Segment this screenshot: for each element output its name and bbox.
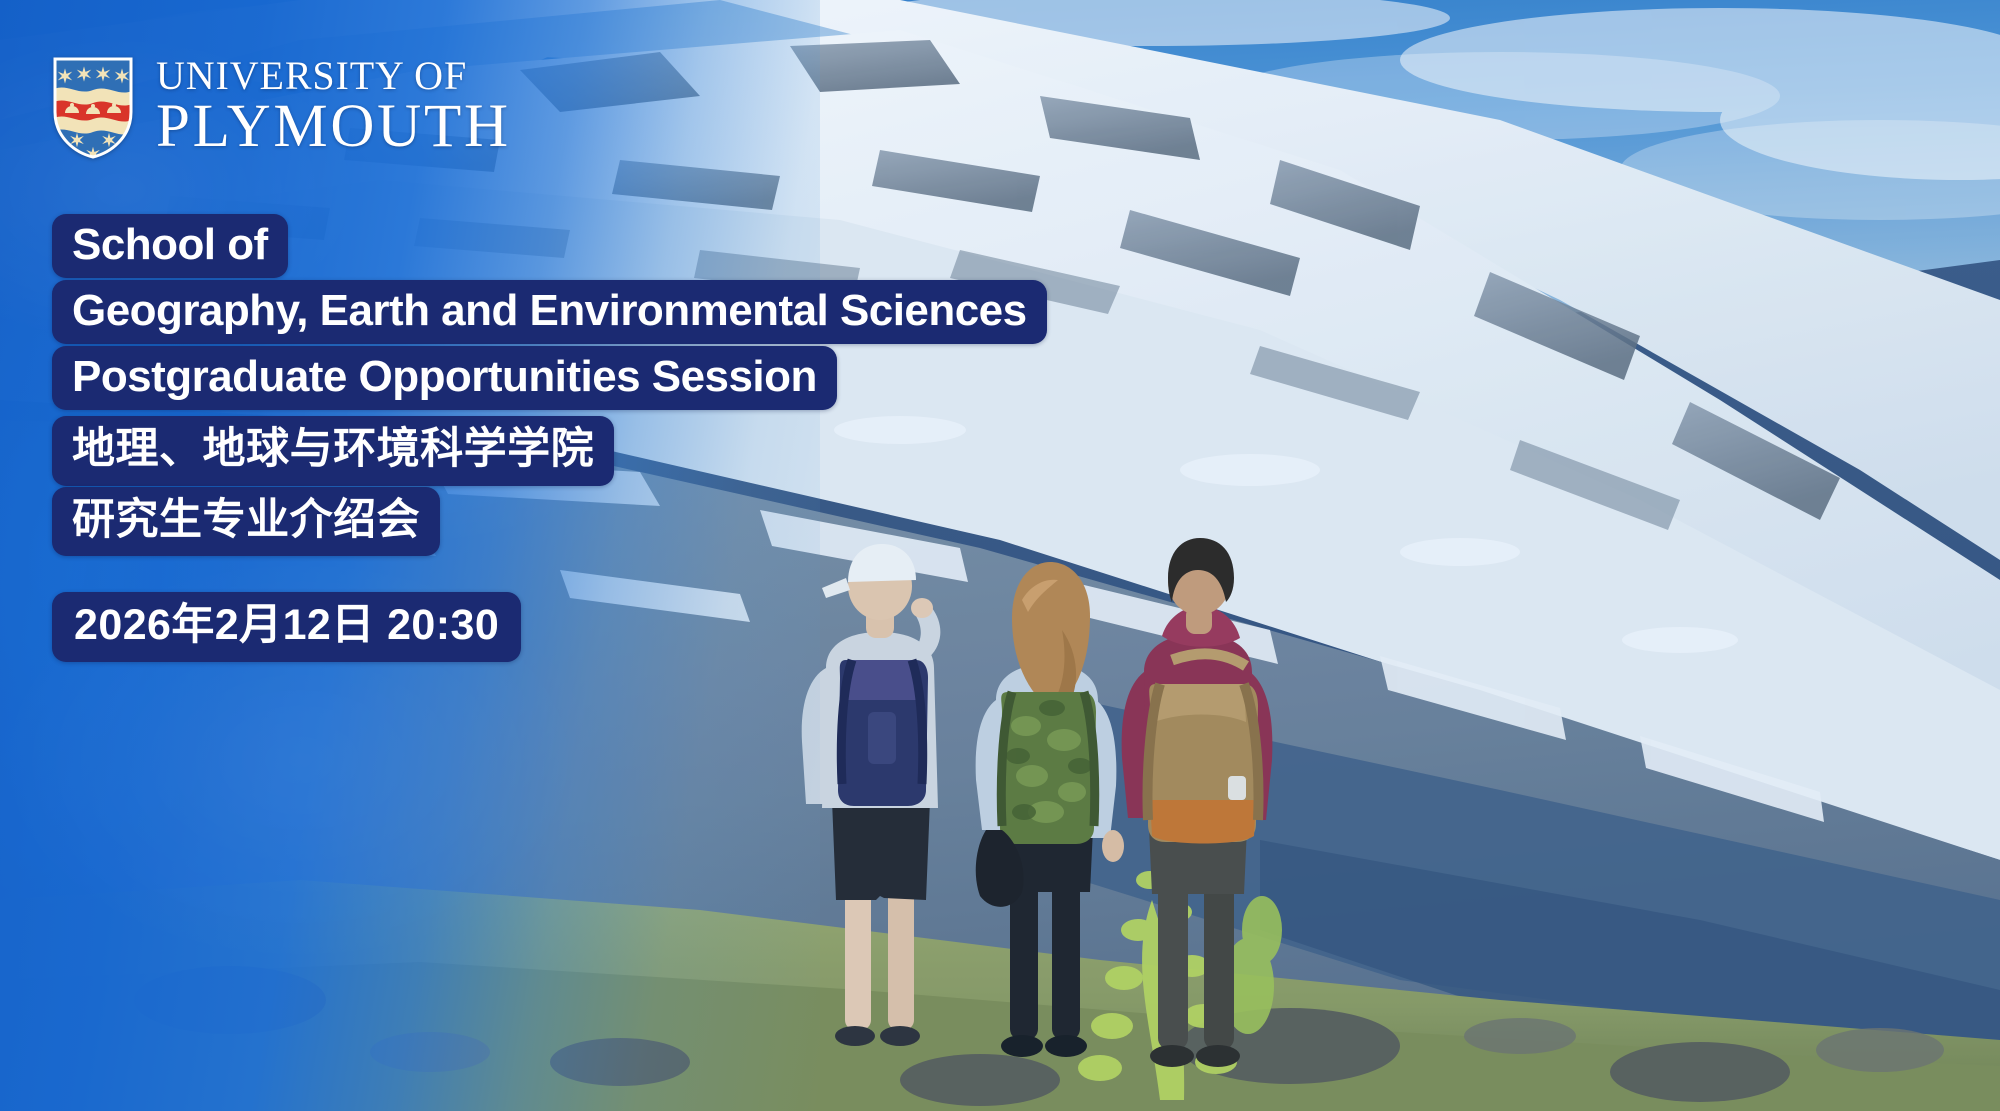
wordmark-line-2: PLYMOUTH bbox=[156, 97, 511, 157]
english-headline-line-3: Postgraduate Opportunities Session bbox=[52, 346, 837, 410]
promotional-banner: UNIVERSITY OF PLYMOUTH School of Geograp… bbox=[0, 0, 2000, 1111]
event-datetime-block: 2026年2月12日 20:30 bbox=[52, 592, 521, 662]
university-logo: UNIVERSITY OF PLYMOUTH bbox=[52, 56, 511, 160]
university-wordmark: UNIVERSITY OF PLYMOUTH bbox=[156, 56, 511, 157]
chinese-headline-block: 地理、地球与环境科学学院 研究生专业介绍会 bbox=[52, 416, 614, 556]
plymouth-crest-shield-icon bbox=[52, 56, 134, 160]
english-headline-line-1: School of bbox=[52, 214, 288, 278]
english-headline-block: School of Geography, Earth and Environme… bbox=[52, 214, 1047, 410]
event-datetime: 2026年2月12日 20:30 bbox=[52, 592, 521, 662]
english-headline-line-2: Geography, Earth and Environmental Scien… bbox=[52, 280, 1047, 344]
wordmark-line-1: UNIVERSITY OF bbox=[156, 56, 511, 95]
chinese-headline-line-2: 研究生专业介绍会 bbox=[52, 487, 440, 557]
chinese-headline-line-1: 地理、地球与环境科学学院 bbox=[52, 416, 614, 486]
